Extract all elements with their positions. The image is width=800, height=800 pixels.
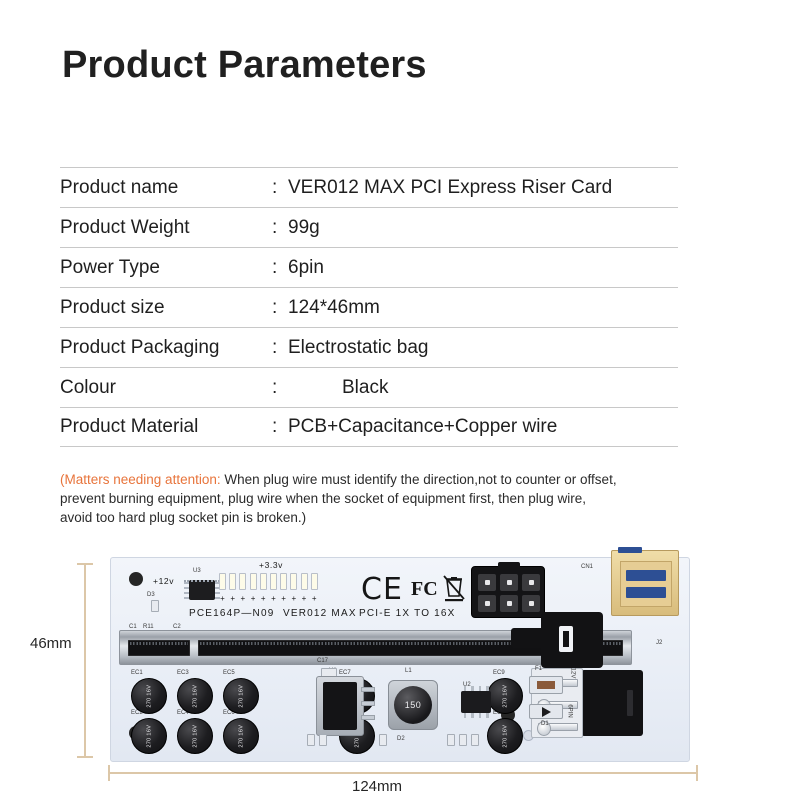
led-plus: + (229, 594, 236, 603)
capacitor-label: 270 16V (238, 685, 244, 708)
height-dimension-line (84, 563, 86, 758)
silk-cn1: CN1 (581, 564, 593, 570)
inductor-core: 150 (394, 686, 432, 724)
led-plus: + (280, 594, 287, 603)
spec-label: Power Type (60, 257, 272, 279)
led-indicator (239, 573, 246, 590)
led-indicator (219, 573, 226, 590)
inductor-l1: 150 (388, 680, 438, 730)
spec-label: Product Weight (60, 217, 272, 239)
mounting-hole (129, 572, 143, 586)
6pin-power-connector (471, 566, 545, 618)
cable-clip-notch (559, 626, 573, 652)
spec-label: Product Material (60, 416, 272, 438)
silk-f1: F1 (535, 666, 542, 672)
ic-u1 (316, 676, 364, 736)
slot-segment-short (128, 640, 190, 656)
led-indicator (250, 573, 257, 590)
capacitor: 270 16V (177, 678, 213, 714)
weee-bin-icon (443, 574, 465, 602)
table-row: Product Packaging : Electrostatic bag (60, 327, 678, 367)
spec-value: VER012 MAX PCI Express Riser Card (284, 177, 678, 199)
table-row: Product size : 124*46mm (60, 287, 678, 327)
led-plus: + (239, 594, 246, 603)
capacitor: 270 16V (223, 718, 259, 754)
silk-ec9: EC9 (493, 670, 505, 676)
spec-value: PCB+Capacitance+Copper wire (284, 416, 678, 438)
ic-u2-pins-top (461, 686, 491, 691)
capacitor: 270 16V (131, 718, 167, 754)
width-dimension-label: 124mm (352, 778, 402, 795)
diode-d1 (529, 704, 563, 719)
spec-value: 124*46mm (284, 297, 678, 319)
fcc-mark-icon: FC (411, 578, 438, 601)
spec-value: 99g (284, 217, 678, 239)
cable-clip (541, 612, 603, 668)
spec-colon: : (272, 337, 284, 359)
led-plus: + (311, 594, 318, 603)
spec-label: Product name (60, 177, 272, 199)
spec-value: 6pin (284, 257, 678, 279)
silk-l1: L1 (405, 668, 412, 674)
ic-u1-legs (361, 687, 375, 720)
ic-u2 (461, 691, 491, 713)
table-row: Power Type : 6pin (60, 247, 678, 287)
capacitor-label: 270 16V (502, 685, 508, 708)
silk-u3: U3 (193, 568, 201, 574)
led-plus: + (270, 594, 277, 603)
spec-label: Product Packaging (60, 337, 272, 359)
connector-slot (627, 690, 633, 716)
capacitor-label: 270 16V (192, 725, 198, 748)
ic-u2-pins-bottom (461, 713, 491, 718)
connector-pins (478, 574, 540, 612)
fuse-f1 (529, 676, 563, 694)
capacitor-label: 270 16V (146, 725, 152, 748)
capacitor-label: 270 16V (146, 685, 152, 708)
spec-colon: : (272, 416, 284, 438)
spec-colon: : (272, 257, 284, 279)
ic-pins-left (184, 580, 189, 600)
spec-colon: : (272, 377, 284, 399)
page-title: Product Parameters (62, 44, 427, 87)
height-dimension-label: 46mm (30, 635, 72, 652)
led-polarity-row: + + + + + + + + + + (219, 594, 318, 603)
spec-colon: : (272, 297, 284, 319)
silk-12v-pin: 12V (569, 668, 575, 679)
capacitor-label: 270 16V (238, 725, 244, 748)
silk-d2: D2 (397, 736, 405, 742)
led-plus: + (290, 594, 297, 603)
attention-note: (Matters needing attention: When plug wi… (60, 470, 690, 527)
ce-mark-icon: CE (361, 572, 403, 607)
led-indicator (260, 573, 267, 590)
capacitor-label: 270 16V (502, 725, 508, 748)
silk-6pin: 6PIN (567, 704, 573, 717)
usb-contacts (626, 567, 666, 601)
pcb-board-image: +12v D3 U3 +3.3v C1 R11 C2 + + + + + + +… (110, 557, 690, 762)
silk-interface: PCI-E 1X TO 16X (359, 608, 456, 619)
capacitor: 270 16V (487, 678, 523, 714)
spec-colon: : (272, 177, 284, 199)
silk-version: VER012 MAX (283, 608, 357, 619)
led-indicator (270, 573, 277, 590)
spec-label: Product size (60, 297, 272, 319)
note-line-1: When plug wire must identify the directi… (221, 472, 617, 487)
smd-resistor (447, 734, 455, 746)
capacitor: 270 16V (223, 678, 259, 714)
led-indicator (290, 573, 297, 590)
led-indicator (311, 573, 318, 590)
usb-clip (618, 547, 642, 553)
silk-ec5: EC5 (223, 670, 235, 676)
capacitor: 270 16V (487, 718, 523, 754)
spec-value: Electrostatic bag (284, 337, 678, 359)
note-line-3: avoid too hard plug socket pin is broken… (60, 510, 306, 525)
spec-table: Product name : VER012 MAX PCI Express Ri… (60, 167, 678, 447)
ic-u3 (189, 580, 215, 600)
black-connector-block (581, 670, 643, 736)
smd-resistor (379, 734, 387, 746)
led-indicator (280, 573, 287, 590)
silk-ec1: EC1 (131, 670, 143, 676)
spec-label: Colour (60, 377, 272, 399)
silk-j2: J2 (656, 640, 662, 646)
led-plus: + (301, 594, 308, 603)
capacitor-label: 270 16V (192, 685, 198, 708)
usb3-port (611, 550, 679, 616)
silk-3v3: +3.3v (259, 560, 283, 570)
smd-resistor (471, 734, 479, 746)
silk-c17: C17 (317, 658, 328, 664)
silk-d1: D1 (541, 721, 549, 727)
silk-12v: +12v (153, 576, 174, 586)
ic-u1-body (323, 682, 357, 730)
led-plus: + (250, 594, 257, 603)
led-d3 (151, 600, 159, 612)
table-row: Product name : VER012 MAX PCI Express Ri… (60, 167, 678, 207)
led-indicator-row (219, 573, 318, 590)
led-plus: + (219, 594, 226, 603)
smd-resistor (307, 734, 315, 746)
silk-ec3: EC3 (177, 670, 189, 676)
table-row: Product Material : PCB+Capacitance+Coppe… (60, 407, 678, 447)
width-dimension-line (108, 772, 698, 774)
note-line-2: prevent burning equipment, plug wire whe… (60, 491, 586, 506)
spec-value: Black (284, 377, 678, 399)
inductor-value: 150 (405, 700, 422, 710)
note-accent-text: Matters needing attention: (65, 472, 221, 487)
connector-latch (498, 562, 520, 568)
capacitor: 270 16V (131, 678, 167, 714)
spec-colon: : (272, 217, 284, 239)
silk-d3: D3 (147, 592, 155, 598)
led-indicator (301, 573, 308, 590)
led-indicator (229, 573, 236, 590)
smd-resistor (459, 734, 467, 746)
smd-resistor (319, 734, 327, 746)
silk-part-number: PCE164P—N09 (189, 608, 274, 619)
led-plus: + (260, 594, 267, 603)
table-row: Colour : Black (60, 367, 678, 407)
capacitor: 270 16V (177, 718, 213, 754)
table-row: Product Weight : 99g (60, 207, 678, 247)
